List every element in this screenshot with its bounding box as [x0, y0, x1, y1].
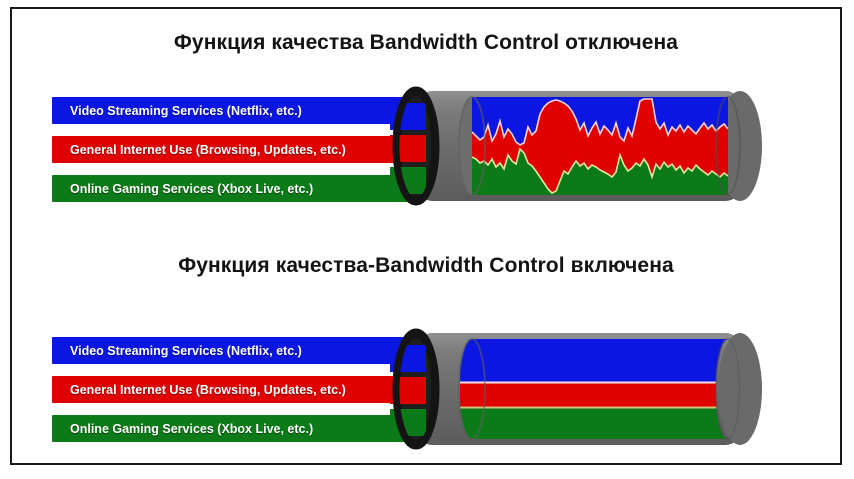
section-title-disabled: Функция качества Bandwidth Control отклю… [12, 31, 840, 55]
section-title-enabled: Функция качества-Bandwidth Control включ… [12, 254, 840, 278]
legend-bar-video-top: Video Streaming Services (Netflix, etc.) [52, 97, 418, 124]
legend-bar-gaming-top: Online Gaming Services (Xbox Live, etc.) [52, 175, 418, 202]
legend-bar-gaming-bottom: Online Gaming Services (Xbox Live, etc.) [52, 415, 418, 442]
legend-bar-gaming-bottom-label: Online Gaming Services (Xbox Live, etc.) [52, 422, 313, 436]
pipe-unmanaged [390, 79, 762, 213]
legend-bar-general-top: General Internet Use (Browsing, Updates,… [52, 136, 418, 163]
legend-bar-general-bottom-label: General Internet Use (Browsing, Updates,… [52, 383, 346, 397]
legend-bar-gaming-top-label: Online Gaming Services (Xbox Live, etc.) [52, 182, 313, 196]
legend-bar-general-bottom: General Internet Use (Browsing, Updates,… [52, 376, 418, 403]
pipe-managed [390, 319, 762, 459]
diagram-frame: Функция качества Bandwidth Control отклю… [10, 7, 842, 465]
legend-bar-video-bottom-label: Video Streaming Services (Netflix, etc.) [52, 344, 302, 358]
legend-bar-video-bottom: Video Streaming Services (Netflix, etc.) [52, 337, 418, 364]
legend-bar-general-top-label: General Internet Use (Browsing, Updates,… [52, 143, 346, 157]
legend-bar-video-top-label: Video Streaming Services (Netflix, etc.) [52, 104, 302, 118]
